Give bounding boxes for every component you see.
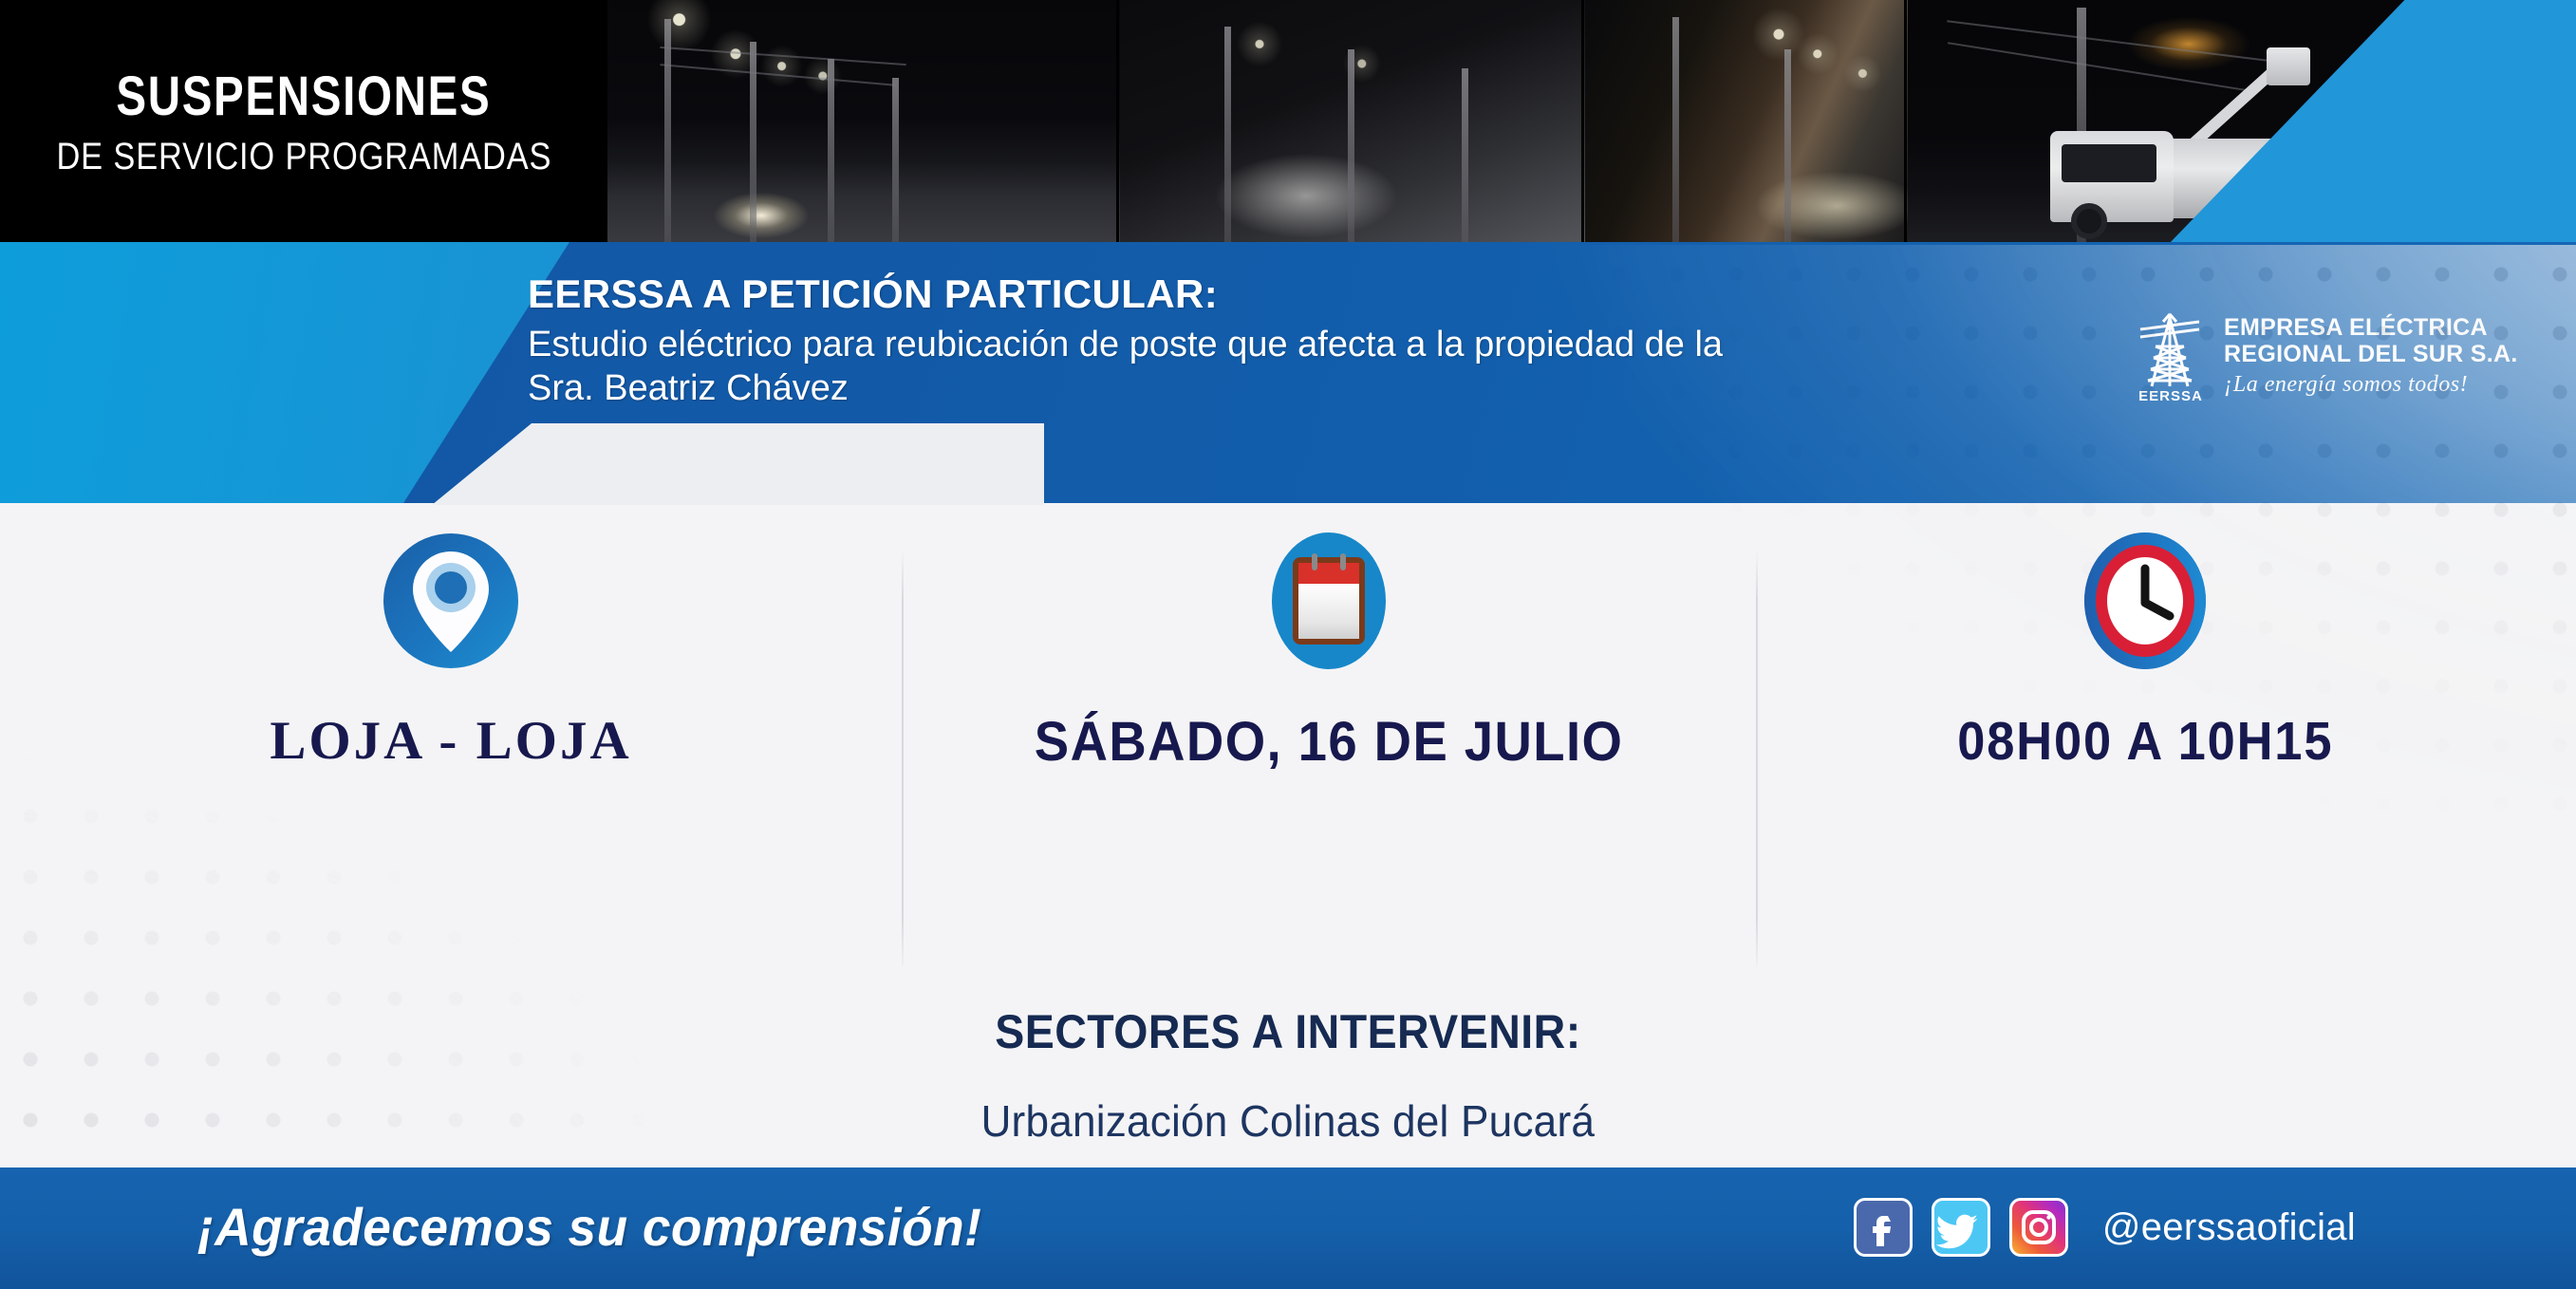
place-label: LOJA - LOJA <box>270 710 631 772</box>
suspension-notice-poster: SUSPENSIONES DE SERVICIO PROGRAMADAS EER… <box>0 0 2576 1289</box>
social-handle: @eerssaoficial <box>2102 1206 2356 1249</box>
utility-truck-night-photo <box>1908 0 2576 245</box>
date-label: SÁBADO, 16 DE JULIO <box>1035 710 1624 774</box>
info-column-place: LOJA - LOJA <box>142 530 759 772</box>
clock-icon <box>2075 530 2215 672</box>
location-pin-icon <box>381 530 521 672</box>
sectors-section: SECTORES A INTERVENIR: Urbanización Coli… <box>0 1004 2576 1147</box>
social-links: @eerssaoficial <box>1854 1198 2356 1257</box>
poster-title-main: SUSPENSIONES <box>117 69 492 124</box>
poster-title-sub: DE SERVICIO PROGRAMADAS <box>56 138 551 176</box>
night-street-photo-3 <box>1585 0 1908 245</box>
footer-thanks-text: ¡Agradecemos su comprensión! <box>197 1196 981 1258</box>
main-content: LOJA - LOJA <box>0 245 2576 1168</box>
night-street-photo-2 <box>1120 0 1585 245</box>
info-column-time: 08H00 A 10H15 <box>1813 530 2477 773</box>
sectors-heading: SECTORES A INTERVENIR: <box>995 1004 1580 1059</box>
column-divider-1 <box>902 551 904 966</box>
calendar-icon <box>1259 530 1399 672</box>
photo-strip: SUSPENSIONES DE SERVICIO PROGRAMADAS <box>0 0 2576 245</box>
night-street-photo-1 <box>607 0 1120 245</box>
twitter-icon[interactable] <box>1932 1198 1990 1257</box>
poster-title-block: SUSPENSIONES DE SERVICIO PROGRAMADAS <box>0 0 607 245</box>
time-label: 08H00 A 10H15 <box>1957 710 2333 773</box>
instagram-icon[interactable] <box>2009 1198 2068 1257</box>
sectors-value: Urbanización Colinas del Pucará <box>981 1095 1596 1147</box>
footer-bar: ¡Agradecemos su comprensión! @eerssao <box>0 1168 2576 1289</box>
info-column-date: SÁBADO, 16 DE JULIO <box>959 530 1699 774</box>
column-divider-2 <box>1756 551 1758 966</box>
facebook-icon[interactable] <box>1854 1198 1913 1257</box>
